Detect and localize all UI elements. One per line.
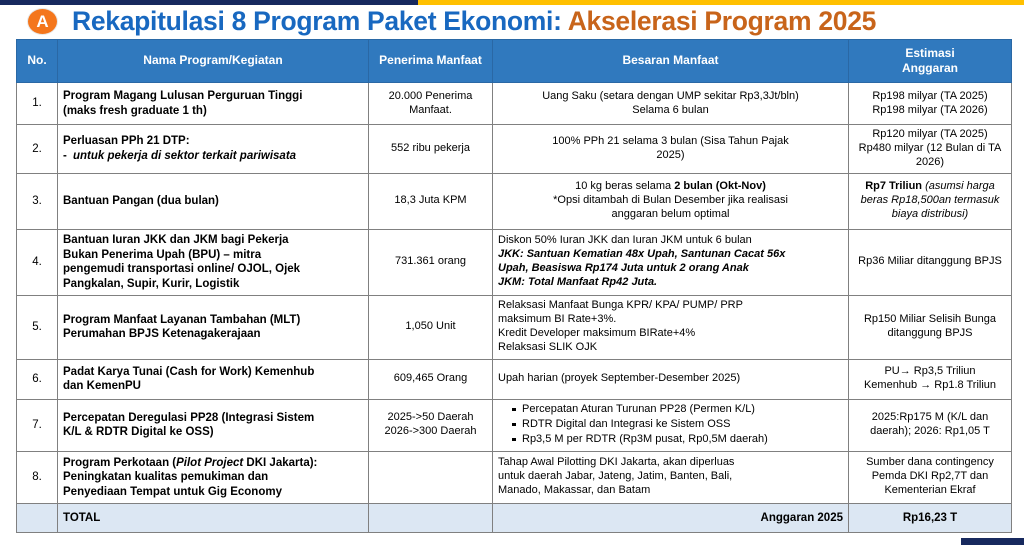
dash-marker: - <box>63 149 73 164</box>
column-header-besaran: Besaran Manfaat <box>493 40 849 83</box>
table-row: 3. Bantuan Pangan (dua bulan) 18,3 Juta … <box>17 173 1012 229</box>
table-row: 5. Program Manfaat Layanan Tambahan (MLT… <box>17 295 1012 359</box>
benefit-line3: anggaran belum optimal <box>611 208 729 220</box>
program-name-line1: Program Manfaat Layanan Tambahan (MLT) <box>63 314 300 326</box>
budget-estimate: Sumber dana contingency Pemda DKI Rp2,7T… <box>849 451 1012 503</box>
row-number: 3. <box>17 173 58 229</box>
benefit-amount: 10 kg beras selama 2 bulan (Okt-Nov) *Op… <box>493 173 849 229</box>
program-name-line2-wrap: -untuk pekerja di sektor terkait pariwis… <box>63 149 363 164</box>
recap-table: No. Nama Program/Kegiatan Penerima Manfa… <box>16 39 1012 533</box>
benefit-amount: Uang Saku (setara dengan UMP sekitar Rp3… <box>493 83 849 125</box>
list-item: RDTR Digital dan Integrasi ke Sistem OSS <box>512 418 843 432</box>
column-header-nama: Nama Program/Kegiatan <box>58 40 369 83</box>
budget-line2: Pemda DKI Rp2,7T dan <box>872 470 989 482</box>
program-name: Program Magang Lulusan Perguruan Tinggi … <box>58 83 369 125</box>
budget-line2: Kemenhub → Rp1.8 Triliun <box>864 379 996 391</box>
benefit-line2: maksimum BI Rate+3%. <box>498 313 616 325</box>
program-name-line1: Percepatan Deregulasi PP28 (Integrasi Si… <box>63 412 314 424</box>
beneficiaries: 552 ribu pekerja <box>369 125 493 174</box>
column-header-no: No. <box>17 40 58 83</box>
row-number: 6. <box>17 359 58 399</box>
program-name-line1-suffix: DKI Jakarta): <box>243 457 317 469</box>
benefit-line2: Selama 6 bulan <box>632 104 708 116</box>
budget-amount-bold: Rp7 Triliun <box>865 180 922 192</box>
program-name-line3: pengemudi transportasi online/ OJOL, Oje… <box>63 263 300 275</box>
program-name-line2: dan KemenPU <box>63 380 141 392</box>
budget-note-line2: beras Rp18,500an termasuk <box>861 194 1000 206</box>
program-name-line1: Padat Karya Tunai (Cash for Work) Kemenh… <box>63 366 314 378</box>
program-name-line2: untuk pekerja di sektor terkait pariwisa… <box>73 150 296 162</box>
total-empty-no <box>17 503 58 532</box>
budget-line1: 2025:Rp175 M (K/L dan <box>872 411 988 423</box>
table-total-row: TOTAL Anggaran 2025 Rp16,23 T <box>17 503 1012 532</box>
program-name: Percepatan Deregulasi PP28 (Integrasi Si… <box>58 399 369 451</box>
program-name-line2: (maks fresh graduate 1 th) <box>63 105 207 117</box>
budget-estimate: Rp36 Miliar ditanggung BPJS <box>849 229 1012 295</box>
benefit-line2: untuk daerah Jabar, Jateng, Jatim, Bante… <box>498 470 732 482</box>
budget-note-line3: biaya distribusi) <box>892 208 968 220</box>
program-name-line2: Bukan Penerima Upah (BPU) – mitra <box>63 249 261 261</box>
bottom-right-accent-bar <box>961 538 1024 545</box>
benefit-line3: Manado, Makassar, dan Batam <box>498 484 650 496</box>
benefit-line1: Uang Saku (setara dengan UMP sekitar Rp3… <box>542 90 799 102</box>
page-title-main: Rekapitulasi 8 Program Paket Ekonomi: <box>72 6 562 36</box>
table-row: 8. Program Perkotaan (Pilot Project DKI … <box>17 451 1012 503</box>
program-name: Bantuan Pangan (dua bulan) <box>58 173 369 229</box>
slide-title-row: A Rekapitulasi 8 Program Paket Ekonomi: … <box>0 4 1024 38</box>
beneficiaries: 20.000 Penerima Manfaat. <box>369 83 493 125</box>
total-label: TOTAL <box>58 503 369 532</box>
row-number: 7. <box>17 399 58 451</box>
row-number: 4. <box>17 229 58 295</box>
benefit-line4: Relaksasi SLIK OJK <box>498 341 597 353</box>
page-title-accent: Akselerasi Program 2025 <box>568 6 876 36</box>
benefit-line2: *Opsi ditambah di Bulan Desember jika re… <box>553 194 788 206</box>
program-name-line1: Bantuan Iuran JKK dan JKM bagi Pekerja <box>63 234 289 246</box>
benefit-line3: Kredit Developer maksimum BIRate+4% <box>498 327 695 339</box>
row-number: 8. <box>17 451 58 503</box>
table-row: 7. Percepatan Deregulasi PP28 (Integrasi… <box>17 399 1012 451</box>
program-name-line1-italic: Pilot Project <box>176 457 243 469</box>
beneficiaries-line2: 2026->300 Daerah <box>384 425 476 437</box>
row-number: 5. <box>17 295 58 359</box>
list-item: Rp3,5 M per RDTR (Rp3M pusat, Rp0,5M dae… <box>512 433 843 447</box>
benefit-line3: Upah, Beasiswa Rp174 Juta untuk 2 orang … <box>498 262 749 274</box>
program-name: Bantuan Iuran JKK dan JKM bagi Pekerja B… <box>58 229 369 295</box>
budget-note-line1: (asumsi harga <box>922 180 995 192</box>
table-row: 1. Program Magang Lulusan Perguruan Ting… <box>17 83 1012 125</box>
benefit-line4: JKM: Total Manfaat Rp42 Juta. <box>498 276 657 288</box>
program-name-line3: Penyediaan Tempat untuk Gig Economy <box>63 486 282 498</box>
budget-estimate: Rp7 Triliun (asumsi harga beras Rp18,500… <box>849 173 1012 229</box>
program-name-line2: Perumahan BPJS Ketenagakerajaan <box>63 328 261 340</box>
benefit-bullet-list: Percepatan Aturan Turunan PP28 (Permen K… <box>498 403 843 447</box>
benefit-line1: Tahap Awal Pilotting DKI Jakarta, akan d… <box>498 456 734 468</box>
column-header-estimasi-line1: Estimasi <box>905 46 954 60</box>
program-name: Padat Karya Tunai (Cash for Work) Kemenh… <box>58 359 369 399</box>
table-row: 4. Bantuan Iuran JKK dan JKM bagi Pekerj… <box>17 229 1012 295</box>
program-name-line4: Pangkalan, Supir, Kurir, Logistik <box>63 278 239 290</box>
column-header-estimasi: Estimasi Anggaran <box>849 40 1012 83</box>
section-badge-a: A <box>27 8 58 35</box>
beneficiaries-line1: 2025->50 Daerah <box>388 411 474 423</box>
program-name: Program Perkotaan (Pilot Project DKI Jak… <box>58 451 369 503</box>
benefit-amount: Tahap Awal Pilotting DKI Jakarta, akan d… <box>493 451 849 503</box>
table-row: 6. Padat Karya Tunai (Cash for Work) Kem… <box>17 359 1012 399</box>
total-empty-penerima <box>369 503 493 532</box>
program-name-line2: Peningkatan kualitas pemukiman dan <box>63 471 268 483</box>
budget-line2: ditanggung BPJS <box>887 327 972 339</box>
budget-estimate: Rp198 milyar (TA 2025) Rp198 milyar (TA … <box>849 83 1012 125</box>
budget-line1: Rp198 milyar (TA 2025) <box>872 90 987 102</box>
program-name-line2: K/L & RDTR Digital ke OSS) <box>63 426 214 438</box>
benefit-amount: 100% PPh 21 selama 3 bulan (Sisa Tahun P… <box>493 125 849 174</box>
benefit-line1: Diskon 50% Iuran JKK dan Iuran JKM untuk… <box>498 234 752 246</box>
benefit-line1-bold: 2 bulan (Okt-Nov) <box>674 180 766 192</box>
program-name-line1-prefix: Program Perkotaan ( <box>63 457 176 469</box>
program-name: Program Manfaat Layanan Tambahan (MLT) P… <box>58 295 369 359</box>
budget-line1: PU→ Rp3,5 Triliun <box>884 365 975 377</box>
beneficiaries: 2025->50 Daerah 2026->300 Daerah <box>369 399 493 451</box>
beneficiaries-line2: Manfaat. <box>409 104 452 116</box>
beneficiaries <box>369 451 493 503</box>
budget-estimate: 2025:Rp175 M (K/L dan daerah); 2026: Rp1… <box>849 399 1012 451</box>
budget-line2: Rp198 milyar (TA 2026) <box>872 104 987 116</box>
benefit-line2: JKK: Santuan Kematian 48x Upah, Santunan… <box>498 248 785 260</box>
row-number: 2. <box>17 125 58 174</box>
list-item: Percepatan Aturan Turunan PP28 (Permen K… <box>512 403 843 417</box>
row-number: 1. <box>17 83 58 125</box>
budget-line1: Rp150 Miliar Selisih Bunga <box>864 313 996 325</box>
budget-estimate: Rp150 Miliar Selisih Bunga ditanggung BP… <box>849 295 1012 359</box>
beneficiaries: 609,465 Orang <box>369 359 493 399</box>
program-name-line1: Perluasan PPh 21 DTP: <box>63 135 190 147</box>
column-header-estimasi-line2: Anggaran <box>902 61 958 75</box>
benefit-line1: 100% PPh 21 selama 3 bulan (Sisa Tahun P… <box>552 135 788 147</box>
beneficiaries: 731.361 orang <box>369 229 493 295</box>
budget-line2: Rp480 milyar (12 Bulan di TA <box>859 142 1002 154</box>
budget-line3: 2026) <box>916 156 944 168</box>
benefit-line1-prefix: 10 kg beras selama <box>575 180 674 192</box>
beneficiaries-line1: 20.000 Penerima <box>389 90 473 102</box>
table-header-row: No. Nama Program/Kegiatan Penerima Manfa… <box>17 40 1012 83</box>
benefit-line2: 2025) <box>656 149 684 161</box>
total-budget-year-label: Anggaran 2025 <box>493 503 849 532</box>
beneficiaries: 1,050 Unit <box>369 295 493 359</box>
table-row: 2. Perluasan PPh 21 DTP: -untuk pekerja … <box>17 125 1012 174</box>
total-amount: Rp16,23 T <box>849 503 1012 532</box>
program-name: Perluasan PPh 21 DTP: -untuk pekerja di … <box>58 125 369 174</box>
budget-estimate: Rp120 milyar (TA 2025) Rp480 milyar (12 … <box>849 125 1012 174</box>
benefit-amount: Percepatan Aturan Turunan PP28 (Permen K… <box>493 399 849 451</box>
benefit-amount: Relaksasi Manfaat Bunga KPR/ KPA/ PUMP/ … <box>493 295 849 359</box>
benefit-amount: Diskon 50% Iuran JKK dan Iuran JKM untuk… <box>493 229 849 295</box>
program-name-line1: Program Magang Lulusan Perguruan Tinggi <box>63 90 302 102</box>
beneficiaries: 18,3 Juta KPM <box>369 173 493 229</box>
benefit-amount: Upah harian (proyek September-Desember 2… <box>493 359 849 399</box>
budget-line3: Kementerian Ekraf <box>884 484 975 496</box>
column-header-penerima: Penerima Manfaat <box>369 40 493 83</box>
budget-line2: daerah); 2026: Rp1,05 T <box>870 425 990 437</box>
budget-line1: Rp120 milyar (TA 2025) <box>872 128 987 140</box>
budget-line1: Sumber dana contingency <box>866 456 994 468</box>
benefit-line1: Relaksasi Manfaat Bunga KPR/ KPA/ PUMP/ … <box>498 299 743 311</box>
page-title: Rekapitulasi 8 Program Paket Ekonomi: Ak… <box>72 6 876 37</box>
budget-estimate: PU→ Rp3,5 Triliun Kemenhub → Rp1.8 Trili… <box>849 359 1012 399</box>
